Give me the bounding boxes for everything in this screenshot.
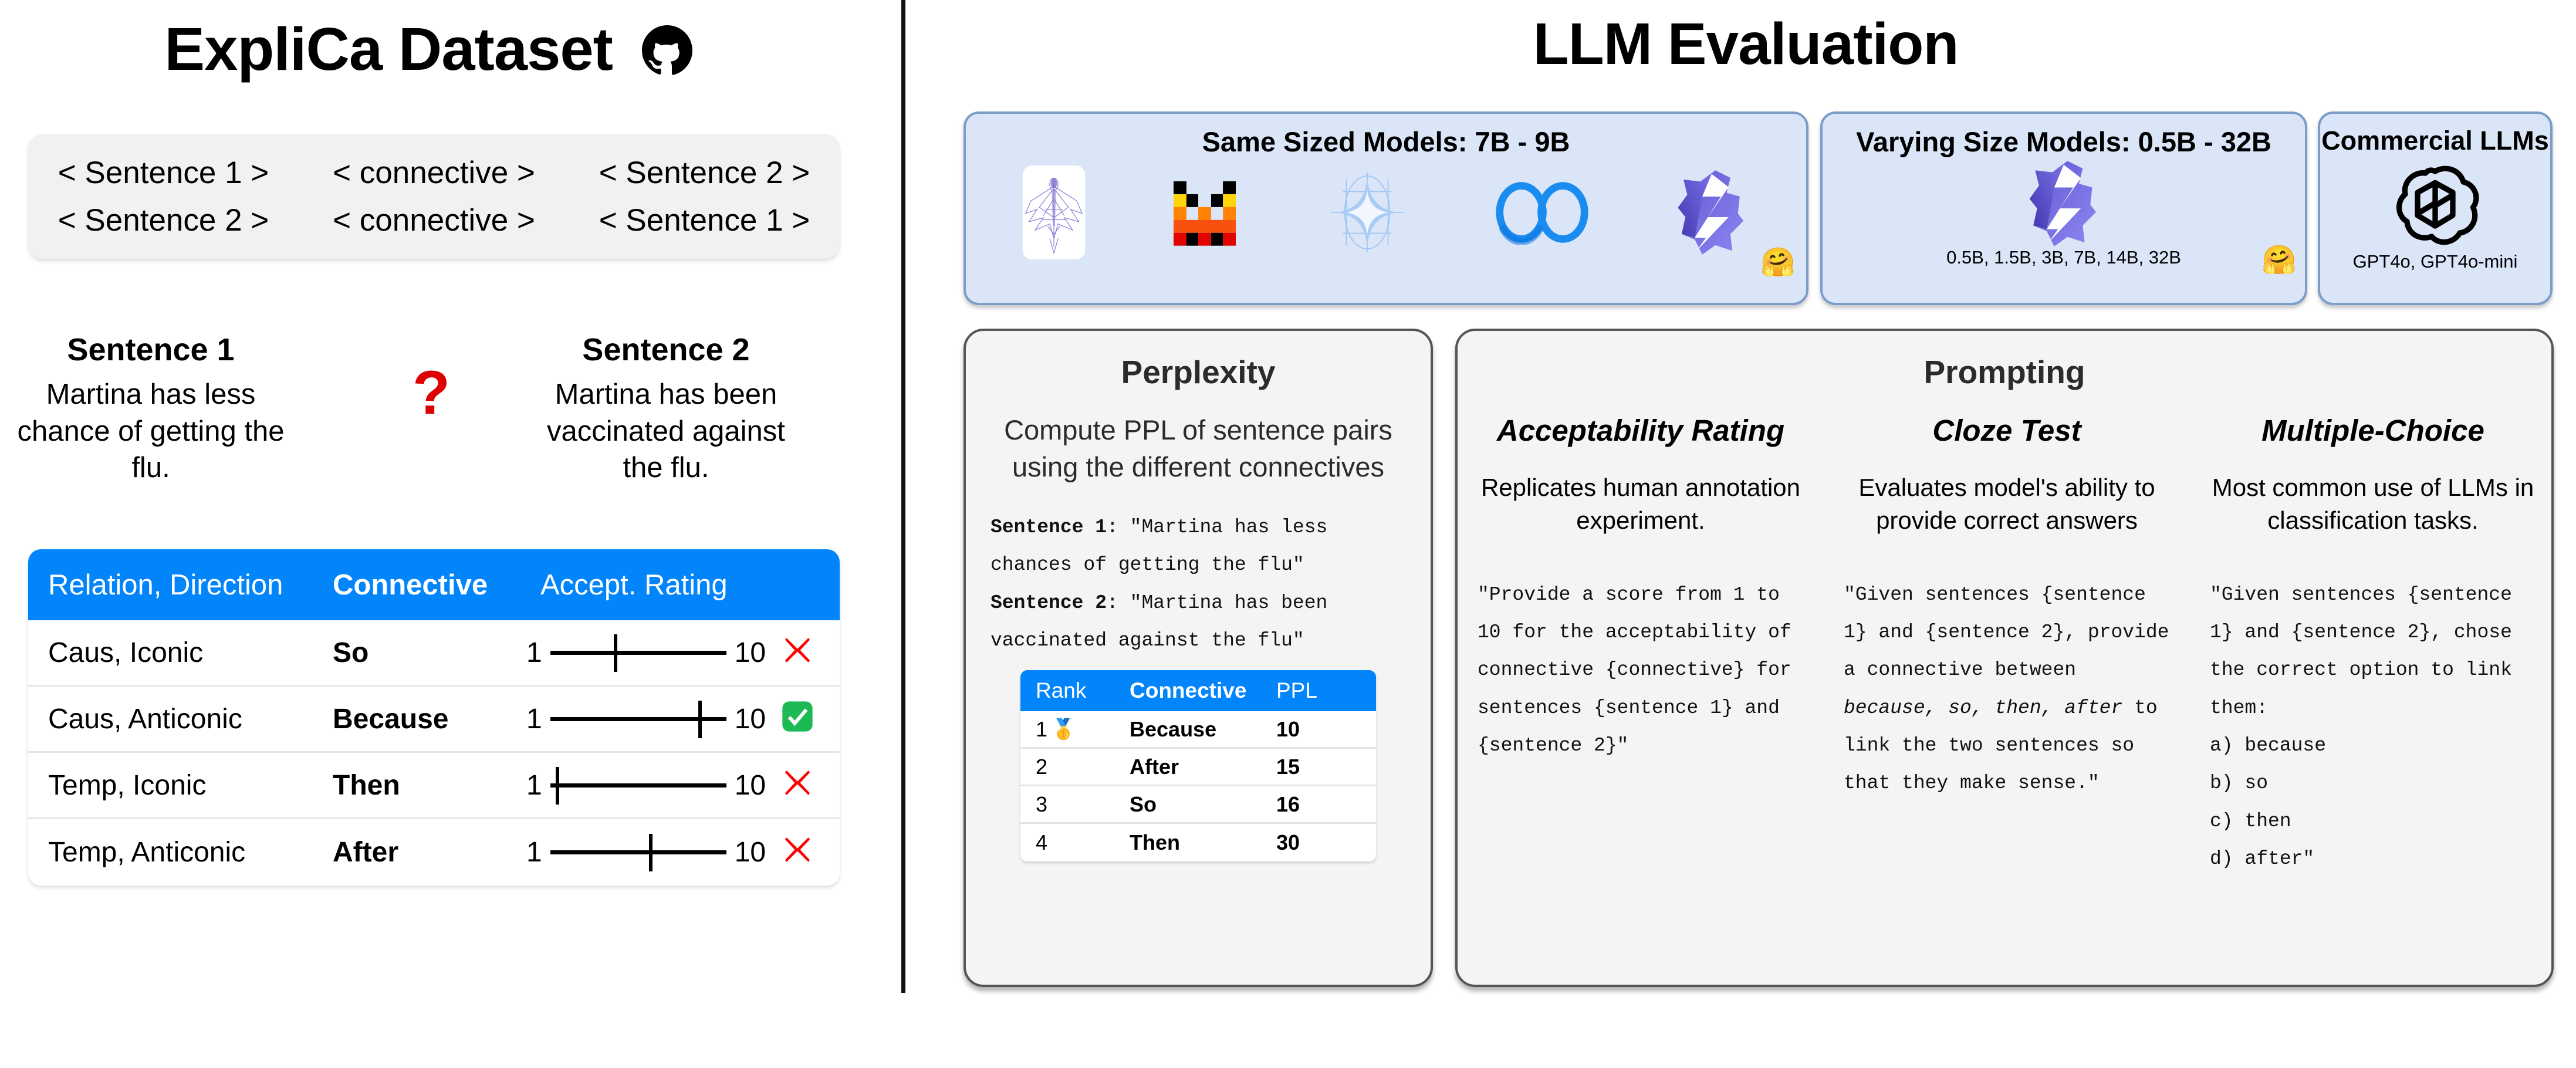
prompt-part-connectives: because, so, then, after: [1844, 697, 2122, 719]
figure-root: ExpliCa Dataset < Sentence 1 > < connect…: [0, 0, 2576, 1068]
github-icon[interactable]: [642, 21, 692, 90]
meta-llama-logo: [1492, 180, 1592, 248]
table-row: 4Then30: [1020, 824, 1376, 861]
model-group-title: Varying Size Models: 0.5B - 32B: [1823, 126, 2305, 158]
rating-slider[interactable]: 110: [526, 637, 766, 669]
perplexity-rank-table: Rank Connective PPL 1🥇Because102After153…: [1020, 670, 1376, 861]
qwen-logo: [1674, 168, 1750, 259]
commercial-models-label: GPT4o, GPT4o-mini: [2320, 251, 2550, 272]
cell-ppl: 30: [1276, 830, 1361, 855]
prompting-column-description: Replicates human annotation experiment.: [1478, 471, 1804, 538]
perplexity-sentence1-line: Sentence 1: "Martina has less chances of…: [990, 509, 1406, 584]
slider-track[interactable]: [550, 783, 726, 788]
table-row: Temp, IconicThen110: [28, 753, 840, 819]
cell-connective: Then: [333, 769, 526, 802]
rating-slider[interactable]: 110: [526, 703, 766, 735]
gemma-sparkle-logo: [1324, 169, 1411, 259]
table-row: 2After15: [1020, 749, 1376, 786]
rank-number: 1: [1036, 717, 1047, 742]
cell-rank: 2: [1036, 755, 1130, 779]
template-slot-sentence2: < Sentence 2 >: [28, 202, 299, 238]
scale-min-label: 1: [526, 637, 542, 669]
cross-icon: [781, 766, 814, 805]
cell-rank: 4: [1036, 830, 1130, 855]
perplexity-sentence2-label: Sentence 2: [990, 592, 1107, 614]
acceptability-rating-table: Relation, Direction Connective Accept. R…: [28, 549, 840, 886]
falcon-logo: [1022, 165, 1086, 262]
prompting-column-title: Multiple-Choice: [2210, 413, 2536, 448]
template-slot-sentence1: < Sentence 1 >: [28, 155, 299, 191]
column-header-relation: Relation, Direction: [48, 569, 333, 601]
prompting-column-title: Cloze Test: [1844, 413, 2170, 448]
cell-rank: 1🥇: [1036, 717, 1130, 742]
cell-ppl: 10: [1276, 717, 1361, 742]
prompting-column-title: Acceptability Rating: [1478, 413, 1804, 448]
model-logo-row: [1823, 158, 2305, 252]
cell-rating-scale: 110: [526, 700, 820, 738]
cell-connective: Then: [1130, 830, 1276, 855]
scale-min-label: 1: [526, 703, 542, 735]
prompting-column-prompt: "Given sentences {sentence 1} and {sente…: [2210, 576, 2536, 878]
table-row: Caus, IconicSo110: [28, 620, 840, 687]
column-header-ppl: PPL: [1276, 678, 1361, 703]
perplexity-title: Perplexity: [966, 353, 1431, 391]
prompting-column-prompt: "Provide a score from 1 to 10 for the ac…: [1478, 576, 1804, 765]
scale-max-label: 10: [735, 637, 766, 669]
table-row: Temp, AnticonicAfter110: [28, 819, 840, 886]
prompting-column-prompt: "Given sentences {sentence 1} and {sente…: [1844, 576, 2170, 803]
sentence-pair-example: Sentence 1 Martina has less chance of ge…: [0, 332, 857, 525]
rating-slider[interactable]: 110: [526, 836, 766, 868]
sentence2-heading: Sentence 2: [528, 332, 804, 368]
sentence1-text: Martina has less chance of getting the f…: [13, 376, 289, 486]
cell-connective: Because: [333, 703, 526, 735]
sentence2-text: Martina has been vaccinated against the …: [528, 376, 804, 486]
column-header-connective: Connective: [1130, 678, 1276, 703]
rank-number: 3: [1036, 792, 1047, 817]
table-header-row: Rank Connective PPL: [1020, 670, 1376, 711]
model-group-title: Commercial LLMs: [2320, 126, 2550, 156]
hugging-face-icon: 🤗: [1760, 249, 1796, 277]
model-group-varying-size: Varying Size Models: 0.5B - 32B: [1820, 111, 2307, 305]
cell-relation-direction: Caus, Iconic: [48, 637, 333, 669]
cell-rank: 3: [1036, 792, 1130, 817]
cell-connective: So: [333, 637, 526, 669]
table-body: Caus, IconicSo110Caus, AnticonicBecause1…: [28, 620, 840, 886]
slider-track[interactable]: [550, 717, 726, 721]
perplexity-card: Perplexity Compute PPL of sentence pairs…: [964, 329, 1433, 987]
cell-ppl: 15: [1276, 755, 1361, 779]
cell-relation-direction: Temp, Iconic: [48, 769, 333, 802]
section-title: LLM Evaluation: [915, 11, 2576, 78]
cell-connective: After: [1130, 755, 1276, 779]
cell-connective: So: [1130, 792, 1276, 817]
rank-number: 2: [1036, 755, 1047, 779]
cell-connective: After: [333, 836, 526, 868]
mistral-logo: [1167, 175, 1242, 253]
model-group-commercial: Commercial LLMs: [2318, 111, 2553, 305]
rating-slider[interactable]: 110: [526, 769, 766, 802]
prompting-columns: Acceptability Rating Replicates human an…: [1458, 413, 2556, 878]
slider-thumb[interactable]: [614, 634, 617, 672]
gold-medal-icon: 🥇: [1051, 719, 1076, 739]
prompting-title: Prompting: [1458, 353, 2551, 391]
slider-thumb[interactable]: [698, 701, 702, 738]
column-header-rating: Accept. Rating: [526, 569, 820, 601]
scale-min-label: 1: [526, 836, 542, 868]
cell-ppl: 16: [1276, 792, 1361, 817]
template-row-anticonic: < Sentence 2 > < connective > < Sentence…: [28, 197, 840, 244]
sentence1-heading: Sentence 1: [13, 332, 289, 368]
prompting-card: Prompting Acceptability Rating Replicate…: [1455, 329, 2554, 987]
page-title-text: ExpliCa Dataset: [164, 15, 613, 83]
scale-max-label: 10: [735, 769, 766, 802]
slider-track[interactable]: [550, 651, 726, 655]
cell-rating-scale: 110: [526, 766, 820, 805]
table-row: 1🥇Because10: [1020, 711, 1376, 749]
prompting-column-multiple-choice: Multiple-Choice Most common use of LLMs …: [2190, 413, 2556, 878]
prompting-column-acceptability: Acceptability Rating Replicates human an…: [1458, 413, 1824, 878]
prompting-column-cloze: Cloze Test Evaluates model's ability to …: [1824, 413, 2190, 878]
cell-relation-direction: Temp, Anticonic: [48, 836, 333, 868]
page-title: ExpliCa Dataset: [0, 15, 857, 90]
table-header-row: Relation, Direction Connective Accept. R…: [28, 549, 840, 620]
qwen-logo: [2025, 159, 2102, 251]
template-row-iconic: < Sentence 1 > < connective > < Sentence…: [28, 149, 840, 197]
check-icon: [781, 700, 814, 738]
template-slot-sentence2: < Sentence 2 >: [569, 155, 840, 191]
slider-thumb[interactable]: [649, 834, 653, 871]
openai-logo: [2391, 161, 2479, 252]
cell-connective: Because: [1130, 717, 1276, 742]
question-mark-icon: ?: [387, 362, 475, 424]
perplexity-sentences: Sentence 1: "Martina has less chances of…: [990, 509, 1406, 660]
table-row: 3So16: [1020, 786, 1376, 824]
model-group-title: Same Sized Models: 7B - 9B: [966, 126, 1806, 158]
column-header-rank: Rank: [1036, 678, 1130, 703]
scale-min-label: 1: [526, 769, 542, 802]
sentence2-block: Sentence 2 Martina has been vaccinated a…: [528, 332, 804, 486]
cross-icon: [781, 833, 814, 871]
cell-relation-direction: Caus, Anticonic: [48, 703, 333, 735]
cell-rating-scale: 110: [526, 833, 820, 871]
model-sizes-label: 0.5B, 1.5B, 3B, 7B, 14B, 32B: [1823, 247, 2305, 268]
model-logo-row: [966, 158, 1806, 269]
cross-icon: [781, 634, 814, 672]
perplexity-sentence2-line: Sentence 2: "Martina has been vaccinated…: [990, 584, 1406, 660]
template-slot-connective: < connective >: [299, 155, 569, 191]
scale-max-label: 10: [735, 703, 766, 735]
column-header-connective: Connective: [333, 569, 526, 601]
rank-number: 4: [1036, 830, 1047, 855]
explica-dataset-panel: ExpliCa Dataset < Sentence 1 > < connect…: [0, 0, 857, 1068]
template-box: < Sentence 1 > < connective > < Sentence…: [28, 134, 840, 259]
slider-track[interactable]: [550, 850, 726, 854]
model-logo-row: [2320, 156, 2550, 256]
perplexity-description: Compute PPL of sentence pairs using the …: [993, 412, 1404, 485]
table-body: 1🥇Because102After153So164Then30: [1020, 711, 1376, 861]
template-slot-sentence1: < Sentence 1 >: [569, 202, 840, 238]
slider-thumb[interactable]: [556, 767, 559, 805]
vertical-divider: [901, 0, 905, 993]
perplexity-sentence1-label: Sentence 1: [990, 516, 1107, 538]
hugging-face-icon: 🤗: [2261, 246, 2297, 275]
template-slot-connective: < connective >: [299, 202, 569, 238]
model-group-same-size: Same Sized Models: 7B - 9B: [964, 111, 1808, 305]
sentence1-block: Sentence 1 Martina has less chance of ge…: [13, 332, 289, 486]
prompting-column-description: Evaluates model's ability to provide cor…: [1844, 471, 2170, 538]
scale-max-label: 10: [735, 836, 766, 868]
table-row: Caus, AnticonicBecause110: [28, 687, 840, 753]
llm-evaluation-panel: LLM Evaluation Same Sized Models: 7B - 9…: [915, 0, 2576, 1068]
cell-rating-scale: 110: [526, 634, 820, 672]
prompting-column-description: Most common use of LLMs in classificatio…: [2210, 471, 2536, 538]
prompt-part-pre: "Given sentences {sentence 1} and {sente…: [1844, 584, 2169, 681]
